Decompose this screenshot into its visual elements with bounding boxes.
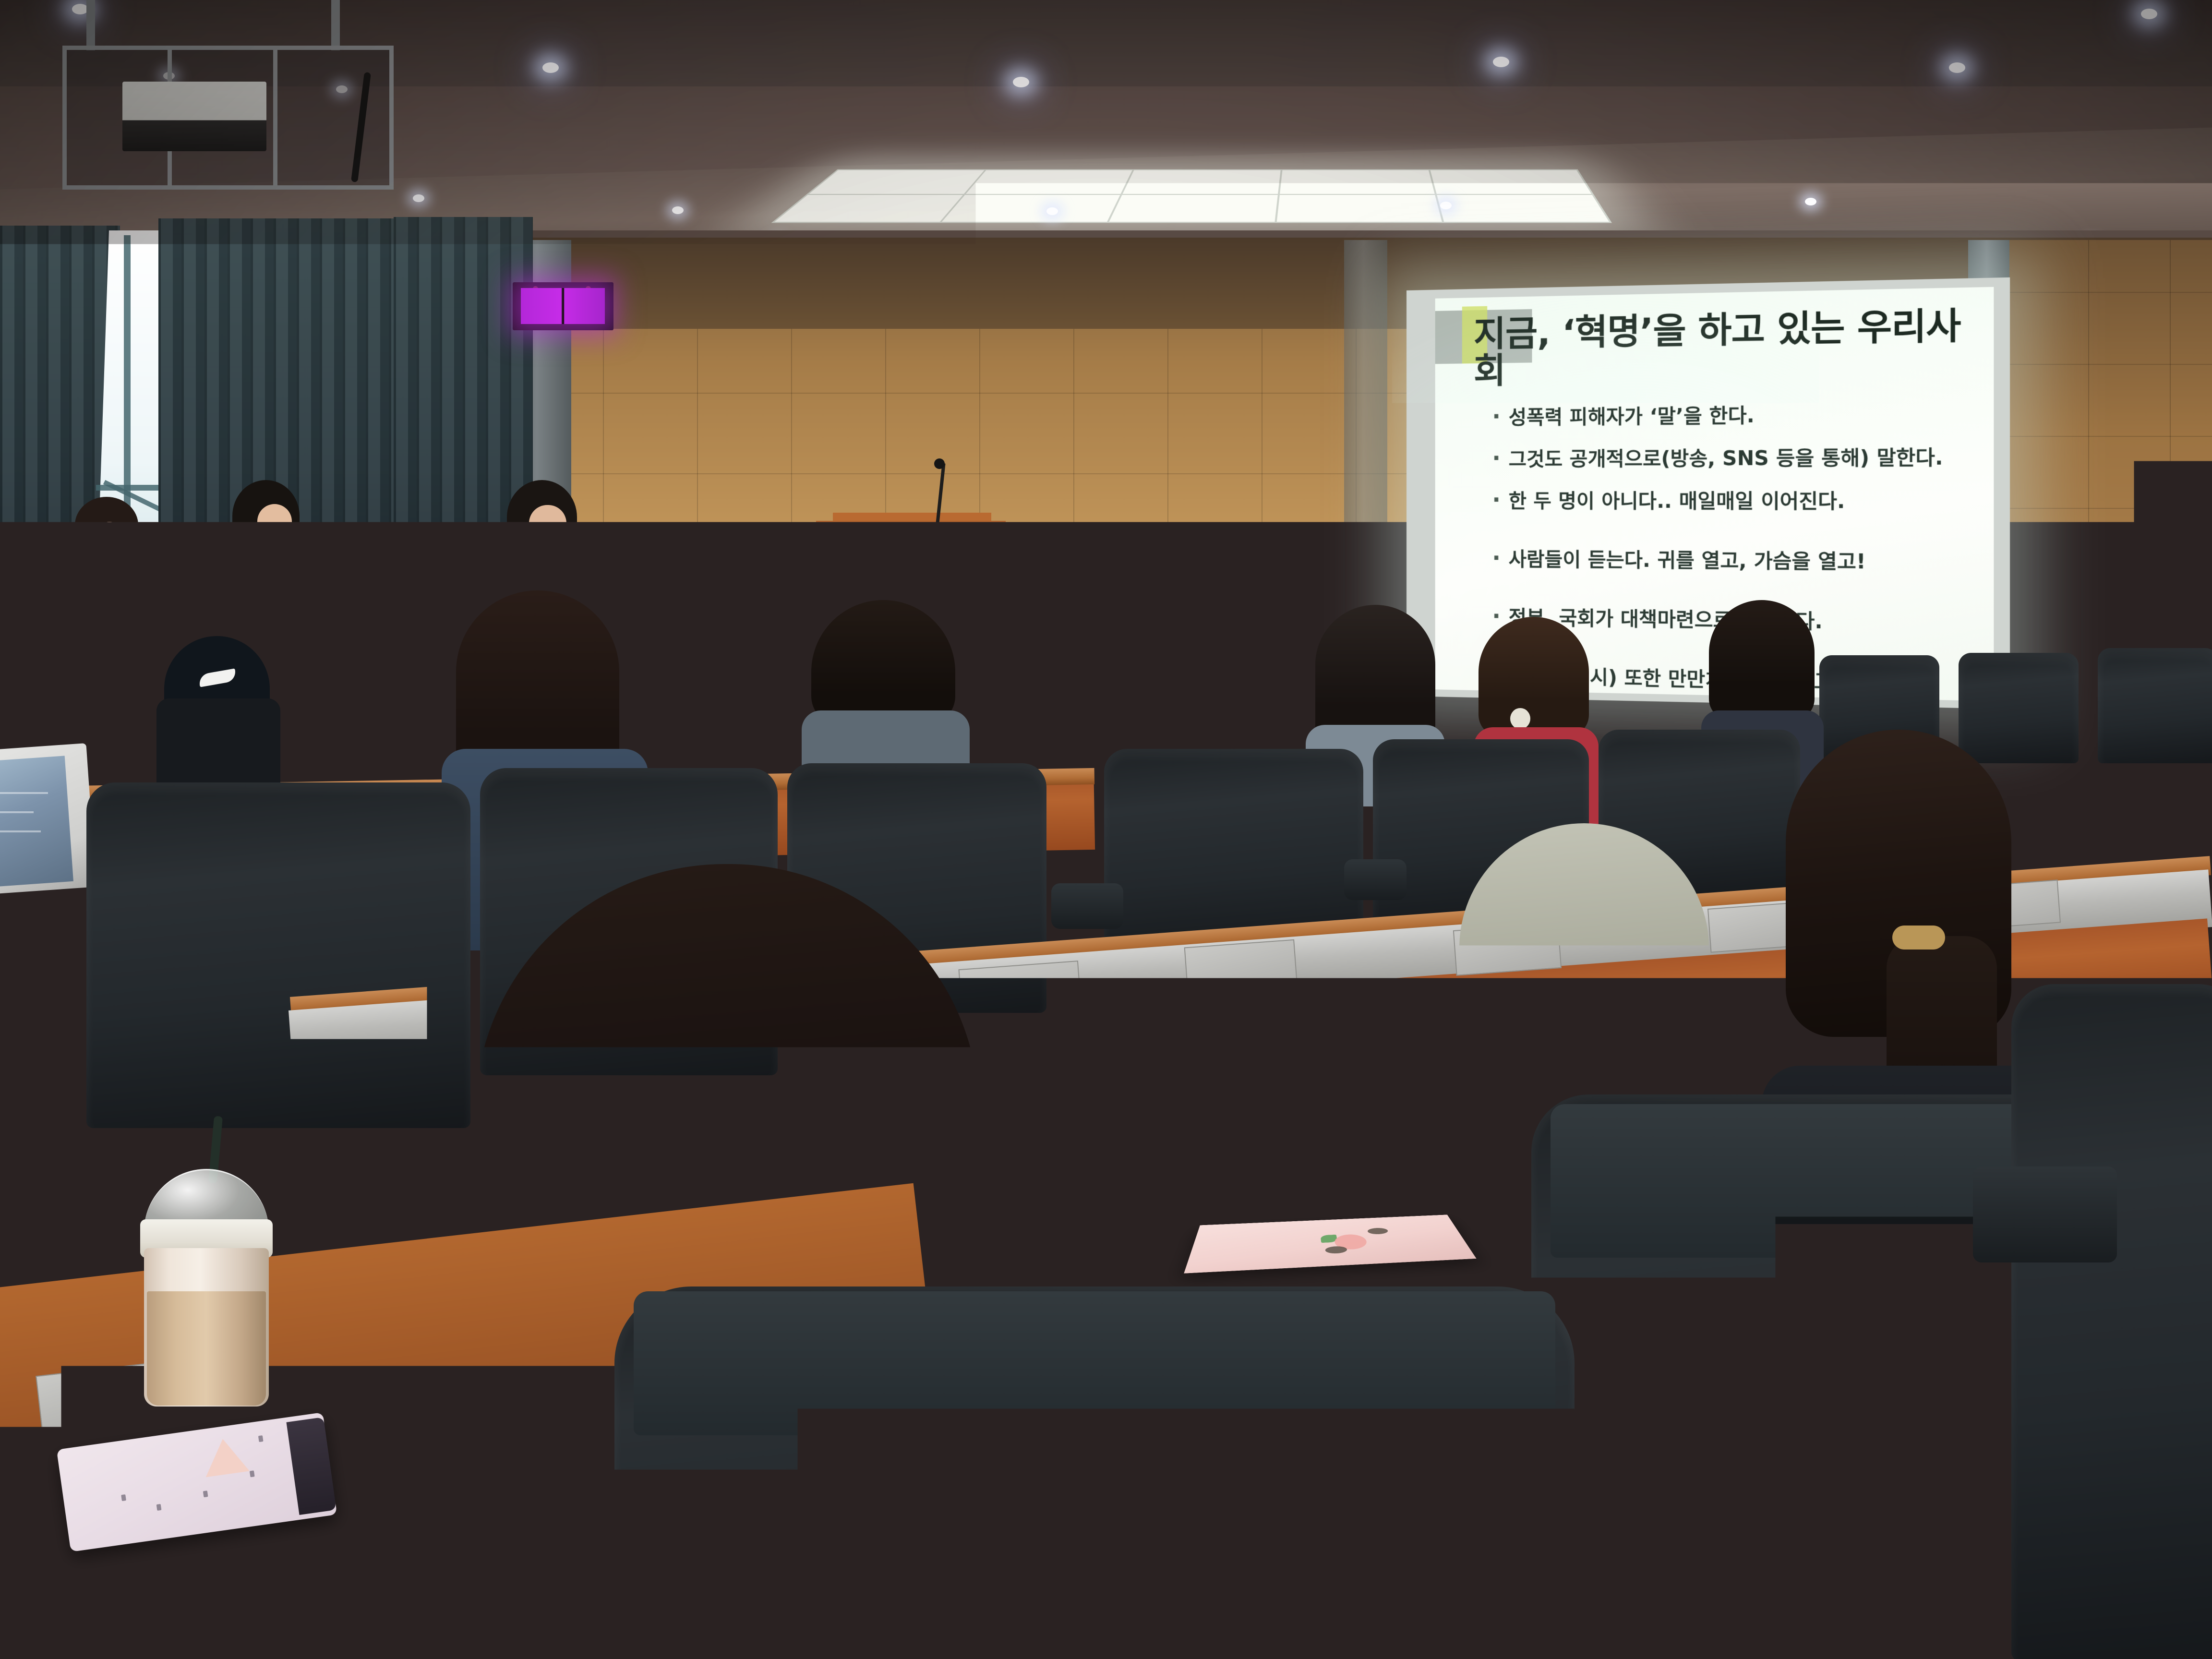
person-hair [1479,617,1589,737]
audience-person [154,636,283,794]
audience-person [806,600,965,758]
cup-liquid [147,1291,266,1406]
pencil-case-pattern-dot [156,1504,162,1511]
water-glass [235,566,257,596]
head-table-front [0,637,836,765]
chair-armrest [1973,1166,2117,1262]
downlight-icon [413,194,424,202]
downlight-icon [1013,77,1029,87]
slide-bullet: 성폭력 피해자가 ‘말’을 한다. [1492,402,1982,429]
laptop-screen-text [0,792,48,794]
microphone-icon [934,458,945,469]
slide-title: 지금, ‘혁명’을 하고 있는 우리사회 [1474,306,1983,389]
pencil-case-pattern-dot [203,1491,208,1497]
projector-icon [122,82,266,151]
downlight-icon [672,206,684,214]
slide-bullet: 그것도 공개적으로(방송, SNS 등을 통해) 말한다. [1492,446,1982,470]
downlight-icon [1440,202,1452,209]
pencil-case-pattern-dot [258,1435,264,1442]
lectern-emblem-icon: ✦ [893,545,916,568]
downlight-icon [1805,198,1816,205]
audience-person [1709,600,1815,744]
downlight-icon [1493,57,1509,67]
chair[interactable] [144,538,226,617]
downlight-icon [72,4,88,14]
downlight-icon [1046,207,1058,215]
hair-tie [1510,708,1530,729]
laptop-screen[interactable] [0,756,73,887]
cable-port-cover[interactable] [1184,939,1298,996]
chair-armrest [1344,859,1407,900]
chair[interactable] [2011,984,2212,1659]
head-table-person [67,497,154,607]
presenter-pointing-hand [1888,567,1908,581]
person-hair-blonde [1142,593,1277,737]
downlight-icon [542,62,559,73]
chair[interactable] [0,538,72,619]
laptop-screen-text [0,811,34,813]
projector-mount-post [86,0,95,50]
chair[interactable] [0,1003,221,1210]
downlight-icon [1949,62,1965,73]
person-face [257,504,292,547]
chair[interactable] [298,537,389,616]
person-face [529,505,566,550]
pencil-case-pattern-dot [250,1470,255,1477]
person-hair [811,600,955,725]
presenter-hand [1976,573,1997,592]
audience-person [1142,593,1277,756]
desk-device [619,562,672,585]
chair[interactable] [2098,648,2212,763]
hair-tie [1892,926,1945,950]
pencil-case-pattern-dot [121,1494,126,1501]
person-face [92,522,127,563]
presenter-fringe [1972,456,2031,481]
notebook-dot [1367,1227,1389,1235]
water-bottle[interactable] [1046,698,1069,742]
desk-device [566,559,619,583]
person-hair-roots [1187,590,1215,617]
laptop-screen-text [0,830,41,832]
projector-mount-post [331,0,340,50]
pencil-case-graphic-icon [201,1436,249,1477]
presenter-badge [2020,560,2028,569]
led-sign [521,288,605,324]
chair-headrest [634,1291,1555,1435]
presenter [1947,454,2057,646]
person-torso [156,698,280,794]
person-hair [1709,600,1815,720]
lecture-hall-photo: 지금, ‘혁명’을 하고 있는 우리사회 성폭력 피해자가 ‘말’을 한다. 그… [0,0,2212,1659]
ceiling-light-panel [771,169,1612,223]
slide-bullet: 한 두 명이 아니다.. 매일매일 이어진다. [1492,490,1982,514]
notebook-dot [1325,1246,1348,1254]
downlight-icon [2141,9,2157,19]
